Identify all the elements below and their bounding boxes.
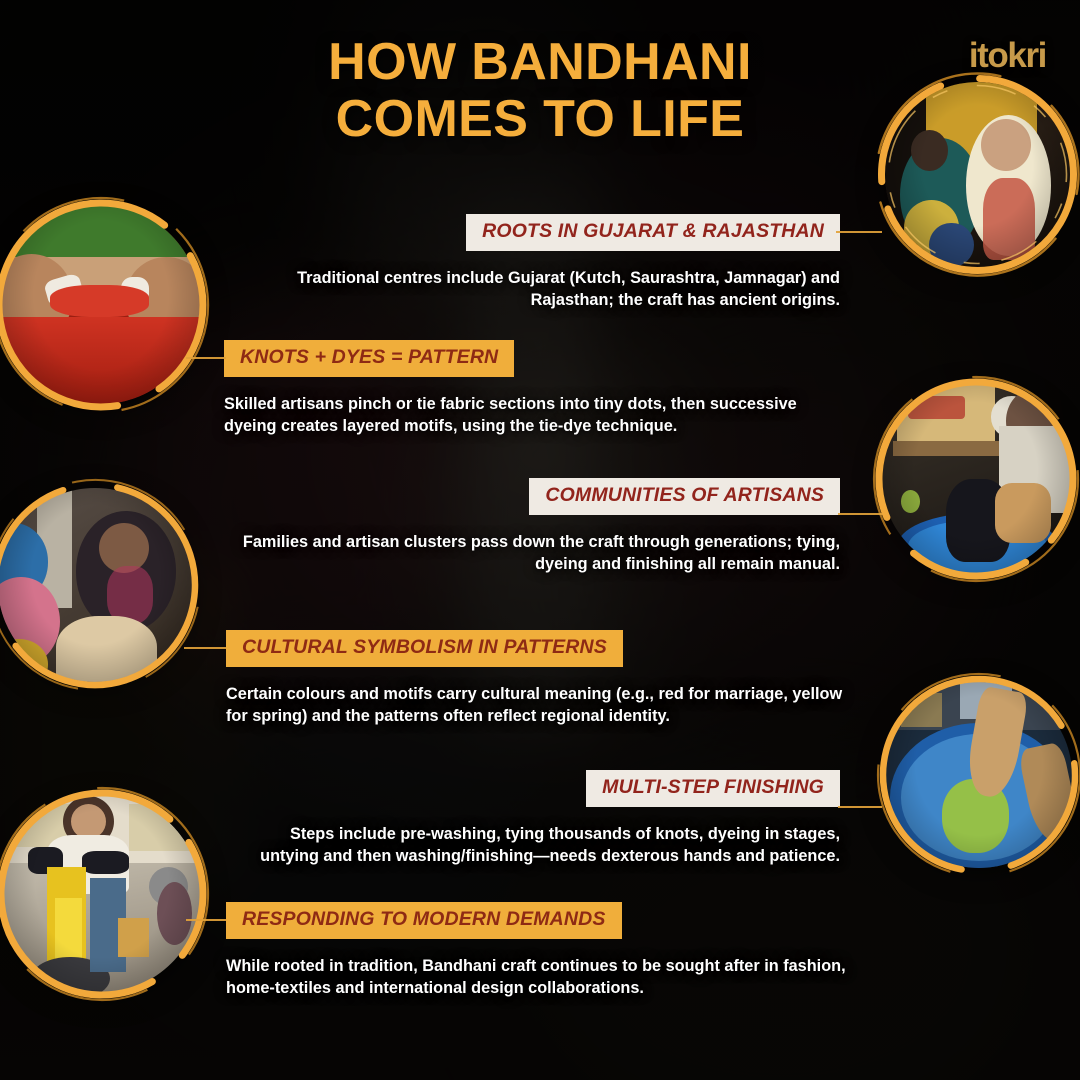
section-knots: KNOTS + DYES = PATTERN Skilled artisans …	[224, 340, 844, 437]
connector-line-knots	[186, 357, 226, 359]
section-heading-symbolism: CULTURAL SYMBOLISM IN PATTERNS	[226, 630, 623, 667]
section-body-symbolism: Certain colours and motifs carry cultura…	[226, 684, 846, 727]
section-finishing: MULTI-STEP FINISHING Steps include pre-w…	[240, 770, 840, 867]
page-title-line-1: HOW BANDHANI	[328, 33, 752, 91]
section-body-knots: Skilled artisans pinch or tie fabric sec…	[224, 394, 844, 437]
section-communities: COMMUNITIES OF ARTISANS Families and art…	[240, 478, 840, 575]
section-roots: ROOTS IN GUJARAT & RAJASTHAN Traditional…	[240, 214, 840, 311]
section-modern: RESPONDING TO MODERN DEMANDS While roote…	[226, 902, 846, 999]
section-body-communities: Families and artisan clusters pass down …	[240, 532, 840, 575]
connector-line-roots	[836, 231, 882, 233]
section-body-modern: While rooted in tradition, Bandhani craf…	[226, 956, 846, 999]
section-heading-finishing: MULTI-STEP FINISHING	[586, 770, 840, 807]
page-title: HOW BANDHANI COMES TO LIFE	[0, 34, 1080, 148]
connector-line-finishing	[838, 806, 882, 808]
section-body-roots: Traditional centres include Gujarat (Kut…	[240, 268, 840, 311]
page-title-line-2: COMES TO LIFE	[0, 91, 1080, 148]
section-heading-roots: ROOTS IN GUJARAT & RAJASTHAN	[466, 214, 840, 251]
section-body-finishing: Steps include pre-washing, tying thousan…	[240, 824, 840, 867]
section-heading-knots: KNOTS + DYES = PATTERN	[224, 340, 514, 377]
section-symbolism: CULTURAL SYMBOLISM IN PATTERNS Certain c…	[226, 630, 846, 727]
connector-line-symbolism	[184, 647, 226, 649]
connector-line-communities	[838, 513, 882, 515]
section-heading-communities: COMMUNITIES OF ARTISANS	[529, 478, 840, 515]
brand-logo: itokri	[969, 38, 1046, 73]
connector-line-modern	[186, 919, 226, 921]
section-heading-modern: RESPONDING TO MODERN DEMANDS	[226, 902, 622, 939]
